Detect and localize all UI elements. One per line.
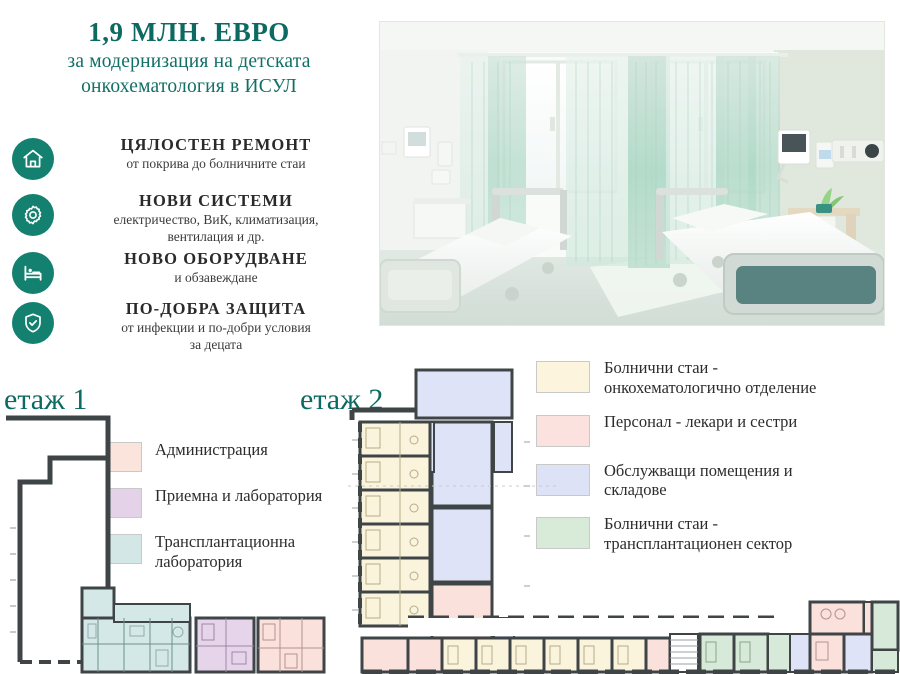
gear-icon [12,194,54,236]
feature-desc-line: и обзавеждане [58,270,374,286]
feature-text-equipment: НОВО ОБОРУДВАНЕ и обзавеждане [54,250,378,286]
headline-subtitle-line1: за модернизация на детската [0,50,378,74]
feature-desc-line: вентилация и др. [58,229,374,245]
page-title: 1,9 МЛН. ЕВРО за модернизация на детскат… [0,18,378,99]
feature-desc-line: от инфекции и по-добри условия [58,320,374,336]
feature-item-equipment: НОВО ОБОРУДВАНЕ и обзавеждане [6,250,378,294]
feature-desc-line: за децата [58,337,374,353]
feature-title: ПО-ДОБРА ЗАЩИТА [58,300,374,319]
floor-plan-2-svg [348,366,900,674]
hospital-room-photo [380,22,884,325]
feature-item-renovation: ЦЯЛОСТЕН РЕМОНТ от покрива до болничните… [6,136,378,180]
feature-desc-line: от покрива до болничните стаи [58,156,374,172]
floor-label-1: етаж 1 [4,385,87,415]
feature-text-systems: НОВИ СИСТЕМИ електричество, ВиК, климати… [54,192,378,246]
feature-title: НОВО ОБОРУДВАНЕ [58,250,374,269]
feature-desc-line: електричество, ВиК, климатизация, [58,212,374,228]
feature-list: ЦЯЛОСТЕН РЕМОНТ от покрива до болничните… [6,136,378,361]
floor-plan-2-drawing [348,366,900,674]
feature-item-systems: НОВИ СИСТЕМИ електричество, ВиК, климати… [6,192,378,246]
hospital-room-illustration [380,22,884,325]
hospital-bed-icon [12,252,54,294]
floor-plan-1-svg [0,412,330,674]
feature-title: ЦЯЛОСТЕН РЕМОНТ [58,136,374,155]
feature-item-protection: ПО-ДОБРА ЗАЩИТА от инфекции и по-добри у… [6,300,378,354]
headline-subtitle-line2: онкохематология в ИСУЛ [0,75,378,99]
infographic-canvas: 1,9 МЛН. ЕВРО за модернизация на детскат… [0,0,900,674]
feature-text-protection: ПО-ДОБРА ЗАЩИТА от инфекции и по-добри у… [54,300,378,354]
headline-subtitle: за модернизация на детската онкохематоло… [0,50,378,99]
headline-amount: 1,9 МЛН. ЕВРО [0,18,378,47]
home-icon [12,138,54,180]
shield-check-icon [12,302,54,344]
feature-title: НОВИ СИСТЕМИ [58,192,374,211]
feature-text-renovation: ЦЯЛОСТЕН РЕМОНТ от покрива до болничните… [54,136,378,172]
floor-plan-1-drawing [0,412,330,674]
